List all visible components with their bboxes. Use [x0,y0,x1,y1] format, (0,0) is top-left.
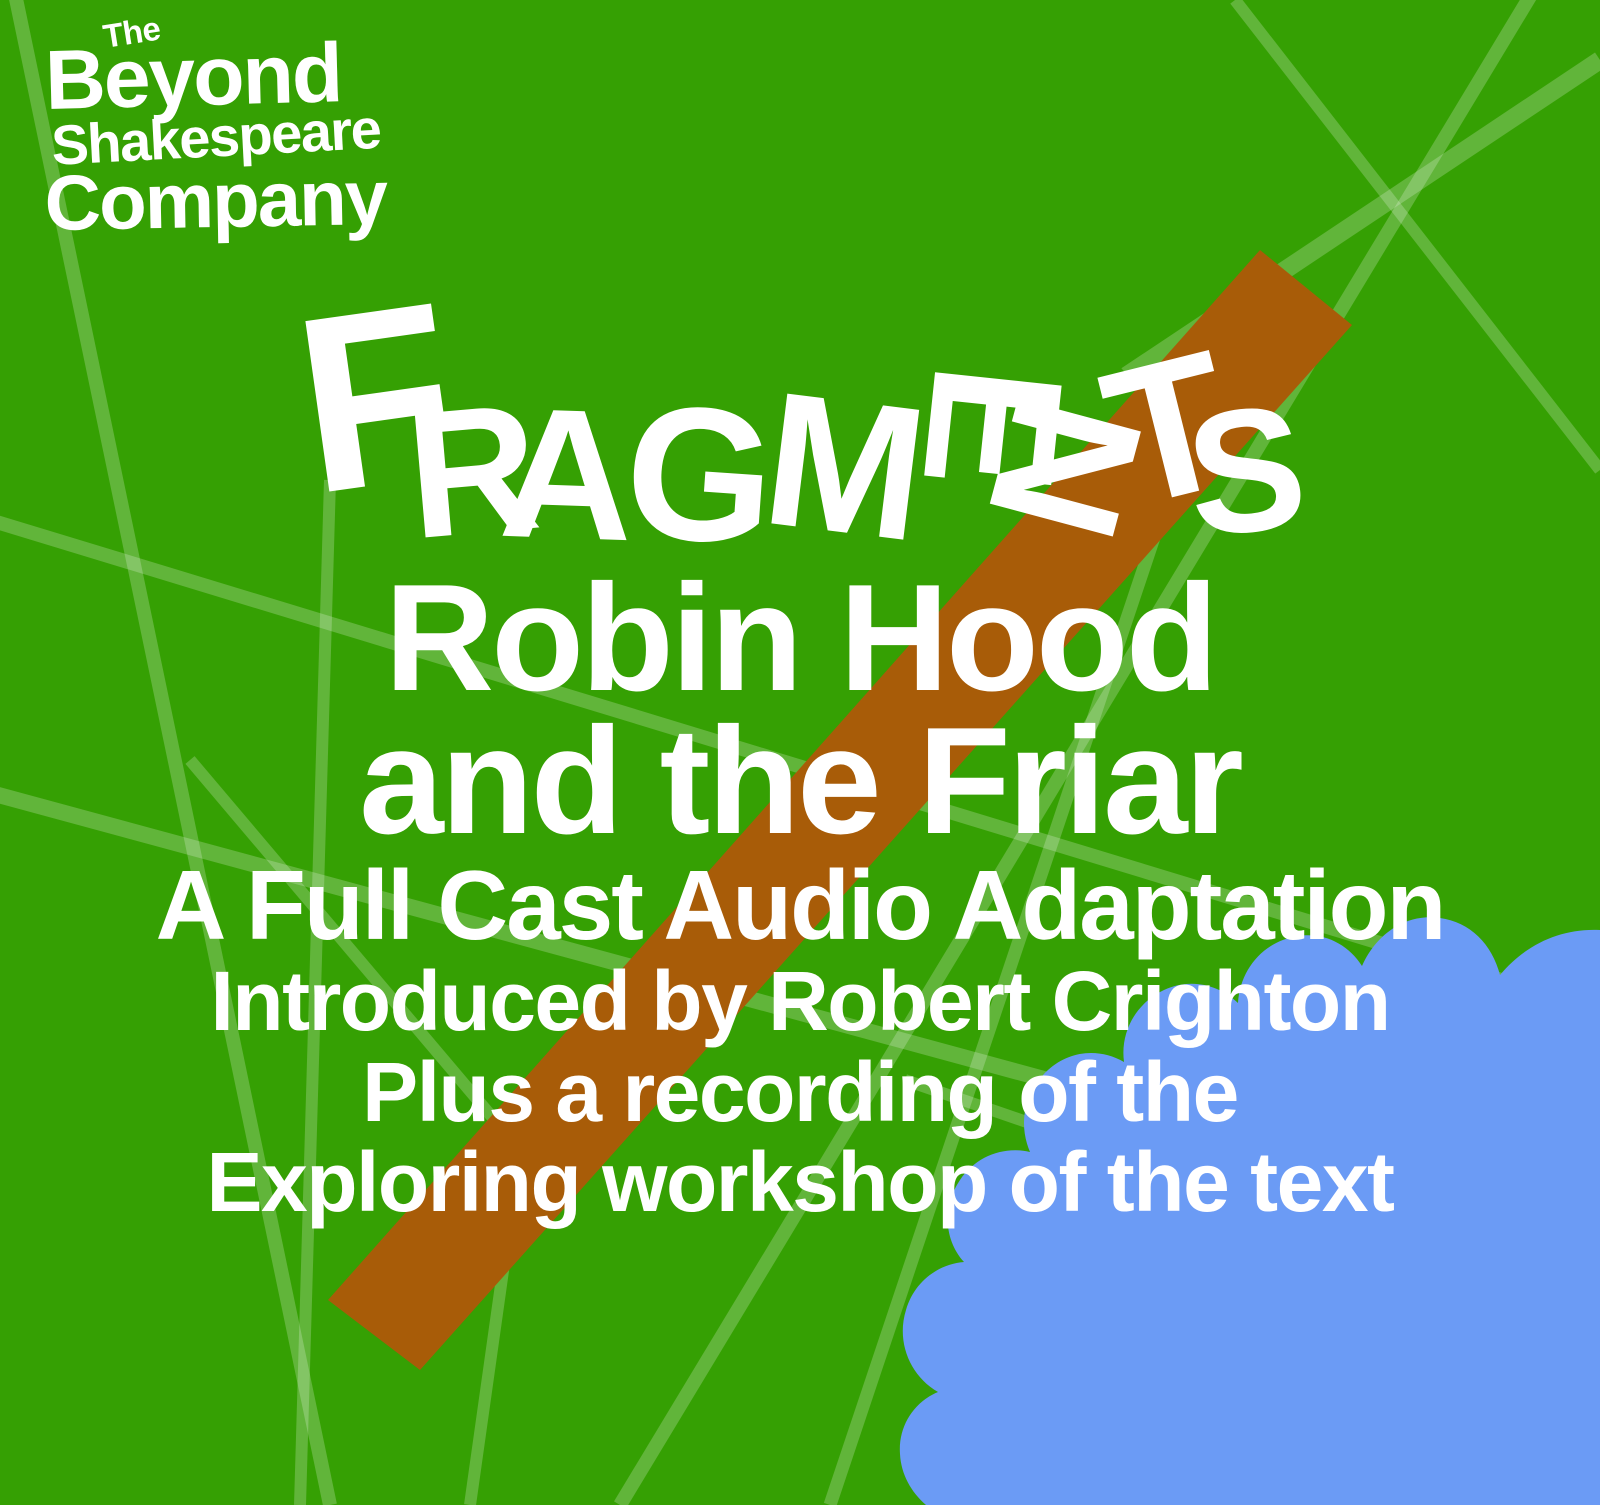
fragments-letter-t-7: T [1092,338,1246,522]
fragments-letter-s-8: S [1181,394,1312,549]
title-block: Robin Hood and the Friar A Full Cast Aud… [0,560,1600,1226]
fragments-letter-m-4: M [757,381,933,555]
title-line-robin-hood: Robin Hood [0,560,1600,717]
poster-artwork: The Beyond Shakespeare Company FRAGMENTS… [0,0,1600,1505]
subtitle-plus-a-recording: Plus a recording of the [0,1049,1600,1136]
subtitle-exploring-workshop: Exploring workshop of the text [0,1139,1600,1226]
title-line-and-the-friar: and the Friar [0,703,1600,860]
fragments-letter-n-6: N [976,384,1157,552]
fragments-letter-f-0: F [286,285,466,509]
logo-line-company: Company [44,158,387,242]
beyond-shakespeare-company-logo: The Beyond Shakespeare Company [44,18,404,233]
subtitle-introduced-by: Introduced by Robert Crighton [0,958,1600,1045]
fragments-letter-a-2: A [497,398,636,554]
subtitle-full-cast-audio-adaptation: A Full Cast Audio Adaptation [0,855,1600,956]
fragments-letter-g-3: G [621,393,779,559]
fragments-letter-r-1: R [402,393,544,551]
fragments-letter-e-5: E [910,359,1074,498]
